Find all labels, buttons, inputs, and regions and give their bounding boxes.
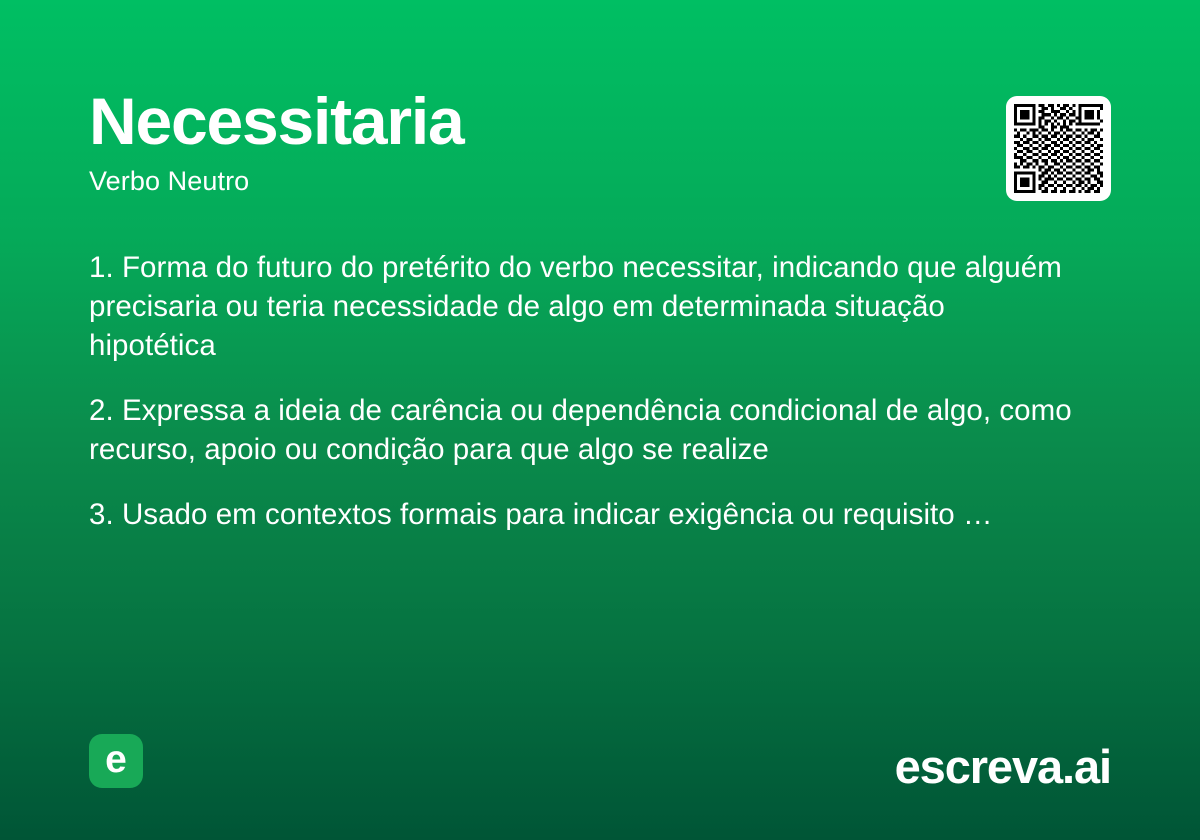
definition-list: 1. Forma do futuro do pretérito do verbo… bbox=[89, 248, 1079, 534]
page-title: Necessitaria bbox=[89, 88, 1111, 154]
definition-item: 1. Forma do futuro do pretérito do verbo… bbox=[89, 248, 1079, 365]
definition-item: 2. Expressa a ideia de carência ou depen… bbox=[89, 391, 1079, 469]
definition-item: 3. Usado em contextos formais para indic… bbox=[89, 495, 1079, 534]
card-footer: e escreva.ai bbox=[89, 734, 1111, 788]
brand-logo-letter: e bbox=[105, 740, 127, 779]
brand-logo: e bbox=[89, 734, 143, 788]
dictionary-card: Necessitaria Verbo Neutro 1. Forma do fu… bbox=[0, 0, 1200, 840]
qr-code-card[interactable] bbox=[1006, 96, 1111, 201]
word-class-label: Verbo Neutro bbox=[89, 167, 1111, 197]
card-header: Necessitaria Verbo Neutro bbox=[89, 88, 1111, 197]
brand-name: escreva.ai bbox=[895, 743, 1111, 790]
qr-code-icon bbox=[1014, 104, 1103, 193]
